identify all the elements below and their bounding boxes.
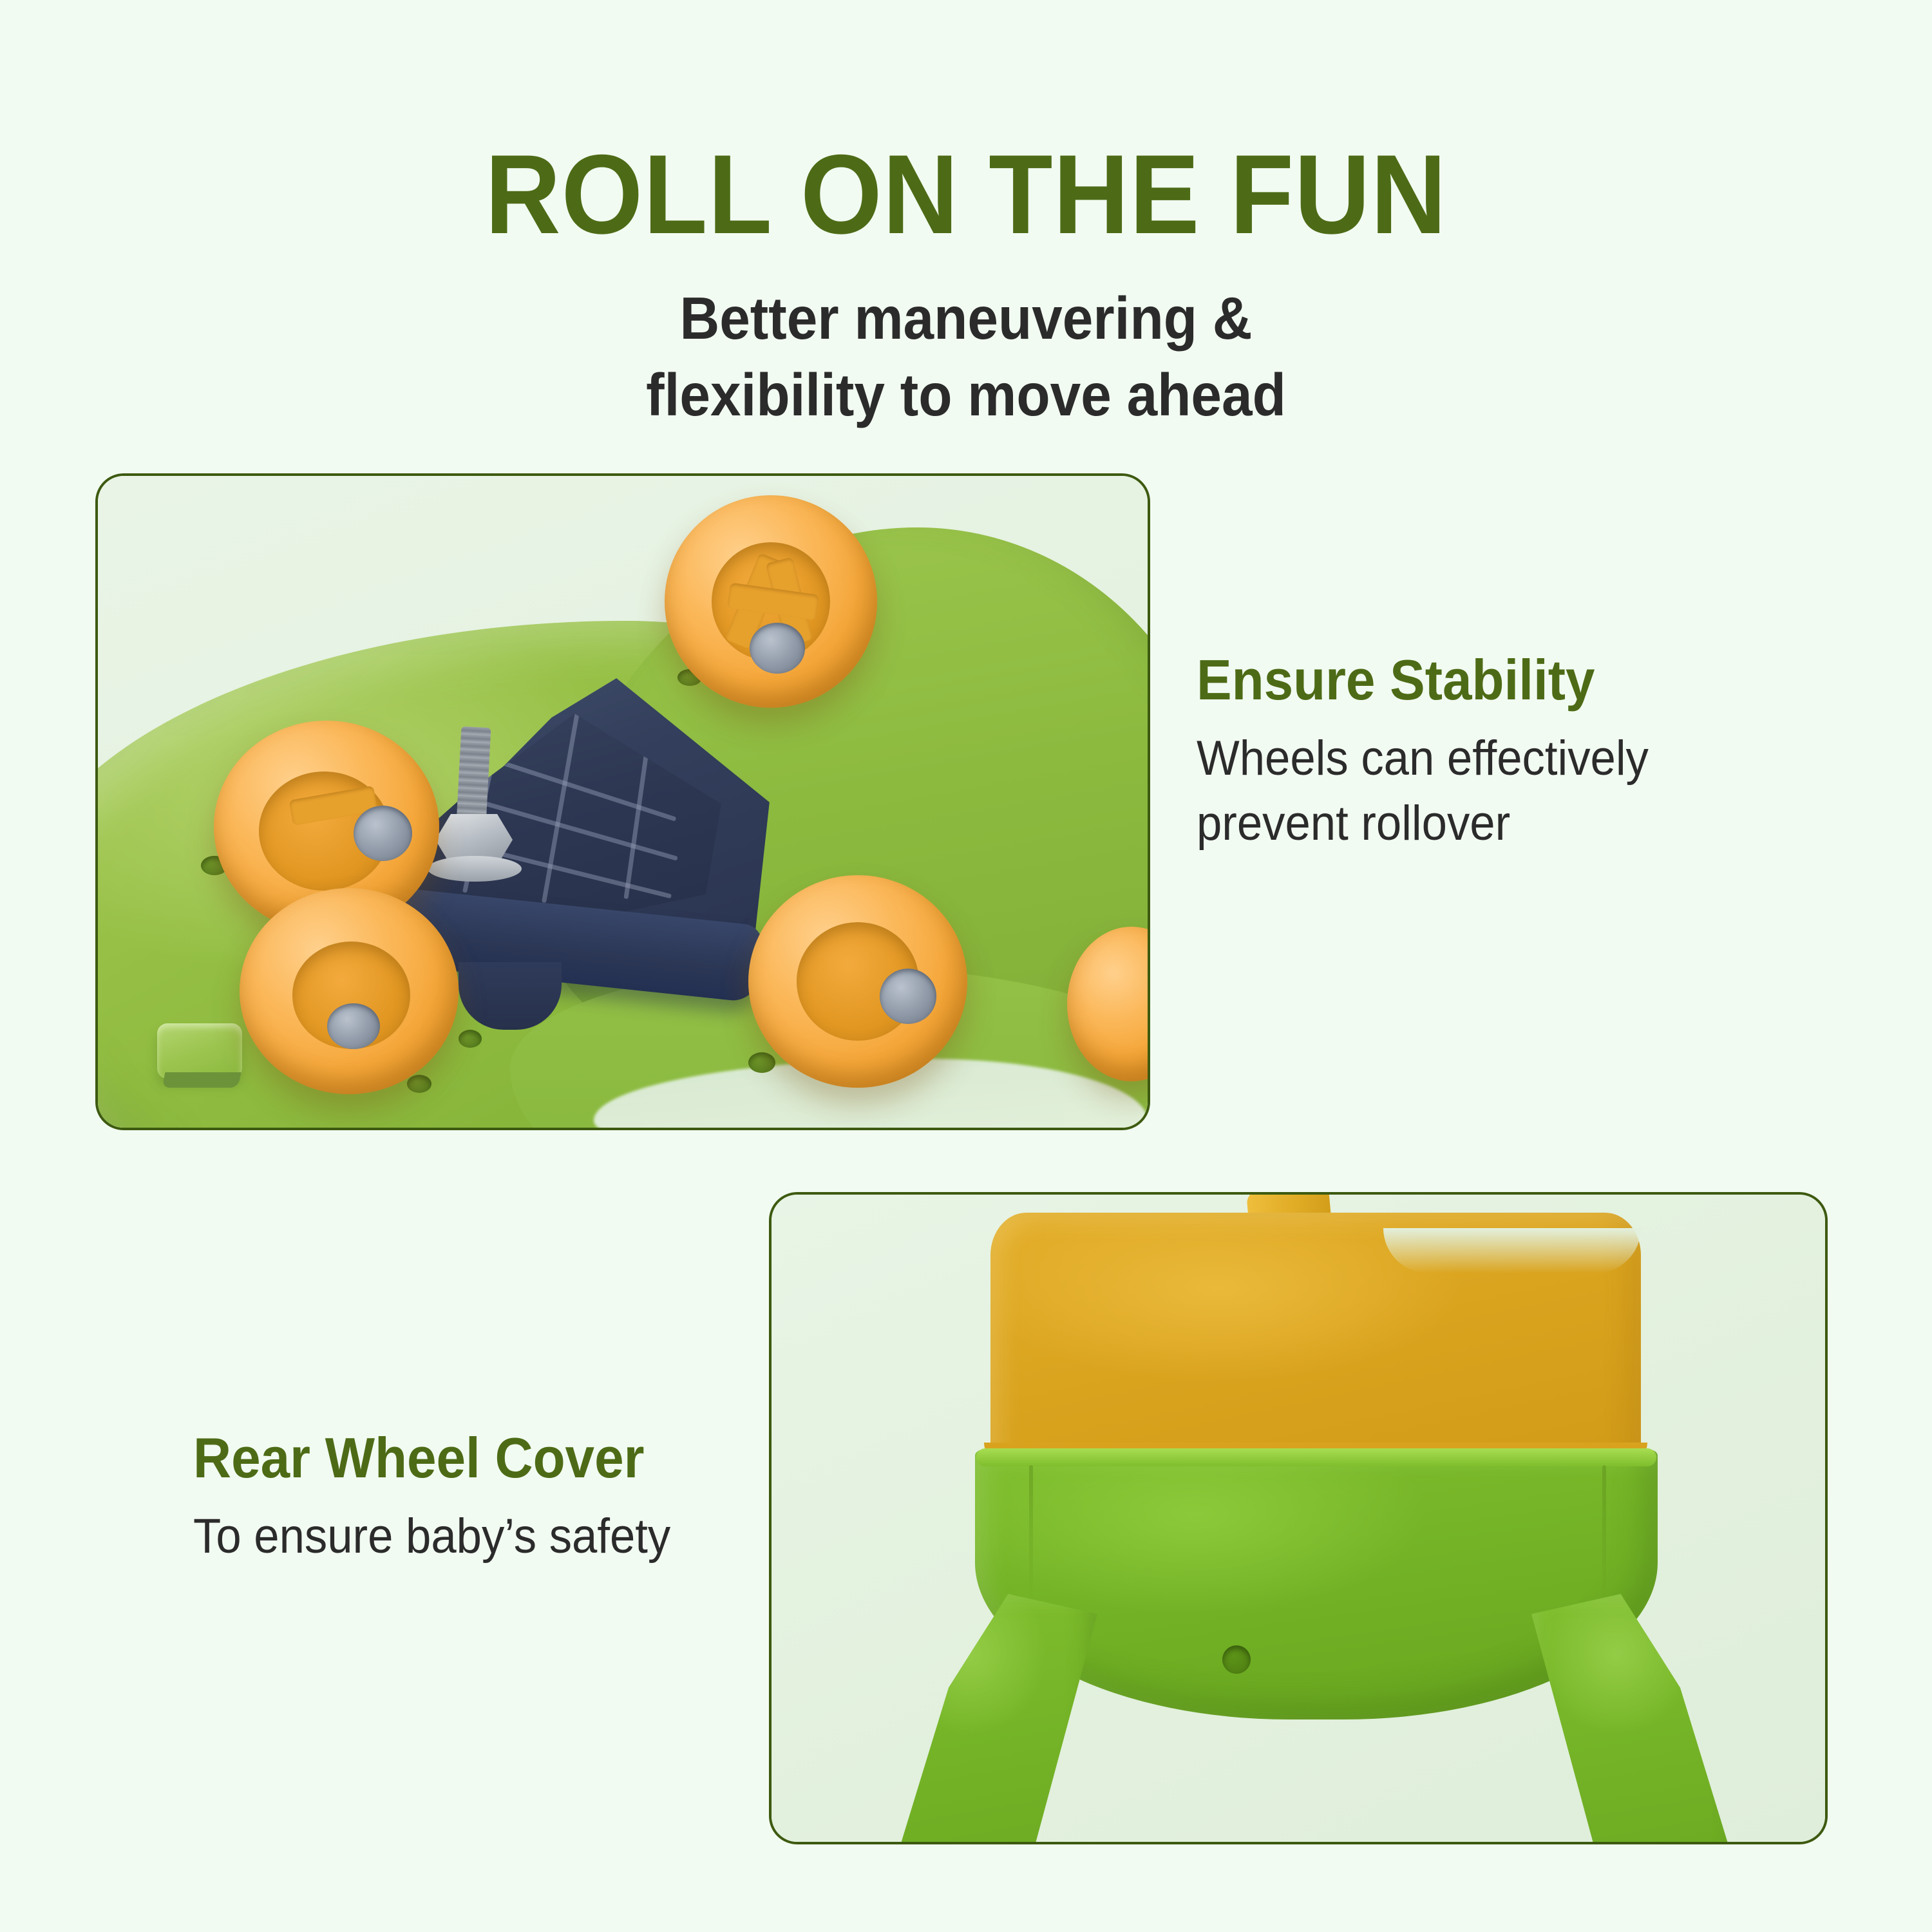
page-subtitle: Better maneuvering & flexibility to move… [77,280,1855,433]
feature-card-rear-wheel-cover [769,1192,1828,1844]
header: ROLL ON THE FUN Better maneuvering & fle… [0,0,1932,433]
feature-body-rear-wheel-cover: To ensure baby’s safety [193,1504,792,1569]
feature-body-line-2: prevent rollover [1197,791,1795,856]
wheel-left-lower [240,888,459,1094]
infographic-page: ROLL ON THE FUN Better maneuvering & fle… [0,0,1932,1932]
bolt-washer [428,856,522,882]
moulded-hole [407,1075,431,1093]
body-seam [1602,1465,1606,1607]
wheel-axle [750,623,805,674]
feature-heading-ensure-stability: Ensure Stability [1197,650,1795,710]
feature-body-line-1: Wheels can effectively [1197,726,1795,791]
wheel-axle [880,969,936,1024]
feature-card-ensure-stability [95,473,1150,1130]
feature-text-ensure-stability: Ensure Stability Wheels can effectively … [1197,650,1841,856]
wheel-axle [327,1003,380,1048]
moulded-tab [157,1023,242,1079]
body-vent-hole [1222,1645,1251,1674]
wheel-top-left [665,495,877,708]
wheel-right [748,875,967,1088]
feature-body-ensure-stability: Wheels can effectively prevent rollover [1197,726,1795,856]
seat-back-notch [1383,1228,1641,1273]
moulded-hole [748,1052,775,1073]
wheel-assembly-photo [98,476,1148,1128]
page-title: ROLL ON THE FUN [68,138,1864,251]
feature-text-rear-wheel-cover: Rear Wheel Cover To ensure baby’s safety [193,1428,837,1569]
rear-wheel-cover-photo [772,1195,1825,1842]
body-seam [1029,1465,1033,1607]
feature-heading-rear-wheel-cover: Rear Wheel Cover [193,1428,792,1488]
moulded-hole [459,1030,482,1048]
subtitle-line-1: Better maneuvering & [77,280,1855,357]
wheel-axle [354,806,412,861]
feature-body-line-1: To ensure baby’s safety [193,1504,792,1569]
subtitle-line-2: flexibility to move ahead [77,357,1855,433]
toy-body-rim [976,1448,1656,1466]
